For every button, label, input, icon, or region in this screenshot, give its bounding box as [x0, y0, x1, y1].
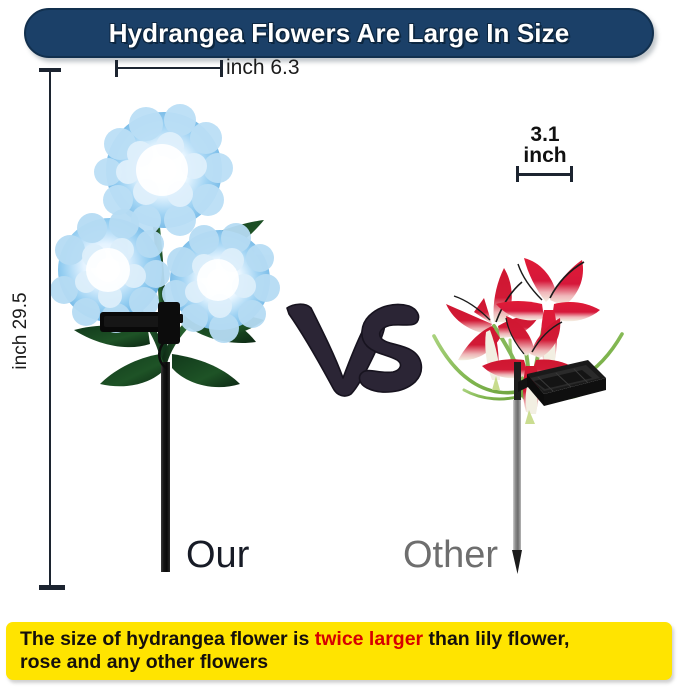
header-banner: Hydrangea Flowers Are Large In Size: [24, 8, 654, 58]
product-image-other-lily-light: [430, 150, 630, 580]
footer-text-before: The size of hydrangea flower is: [20, 628, 315, 650]
label-our: Our: [186, 534, 249, 577]
measure-height-cap-bottom: [39, 585, 65, 590]
comparison-infographic: Hydrangea Flowers Are Large In Size: [0, 0, 679, 688]
measure-our-width-bar: [116, 67, 223, 69]
label-other: Other: [403, 534, 498, 577]
footer-highlight: twice larger: [315, 628, 423, 650]
measure-other-width-label: 3.1 inch: [498, 124, 592, 166]
footer-caption: The size of hydrangea flower is twice la…: [20, 628, 662, 674]
product-image-our-hydrangea-light: [40, 62, 290, 572]
measure-our-width-cap-right: [220, 60, 223, 77]
vs-graphic: [283, 292, 428, 397]
measure-height-bar: [49, 70, 51, 588]
measure-other-width-bar: [518, 173, 572, 176]
measure-our-width-label: inch 6.3: [226, 56, 300, 80]
measure-other-width-unit: inch: [523, 144, 566, 167]
footer-text-line2: rose and any other flowers: [20, 651, 268, 673]
measure-other-width-value: 3.1: [530, 123, 559, 146]
footer-text-after: than lily flower,: [423, 628, 569, 650]
stake-pole-left: [160, 362, 171, 572]
page-title: Hydrangea Flowers Are Large In Size: [109, 18, 570, 49]
measure-height-label: inch 29.5: [10, 281, 32, 381]
stake-pole-right: [512, 400, 522, 574]
measure-other-width-cap-right: [570, 166, 573, 182]
footer-banner: The size of hydrangea flower is twice la…: [6, 622, 672, 680]
